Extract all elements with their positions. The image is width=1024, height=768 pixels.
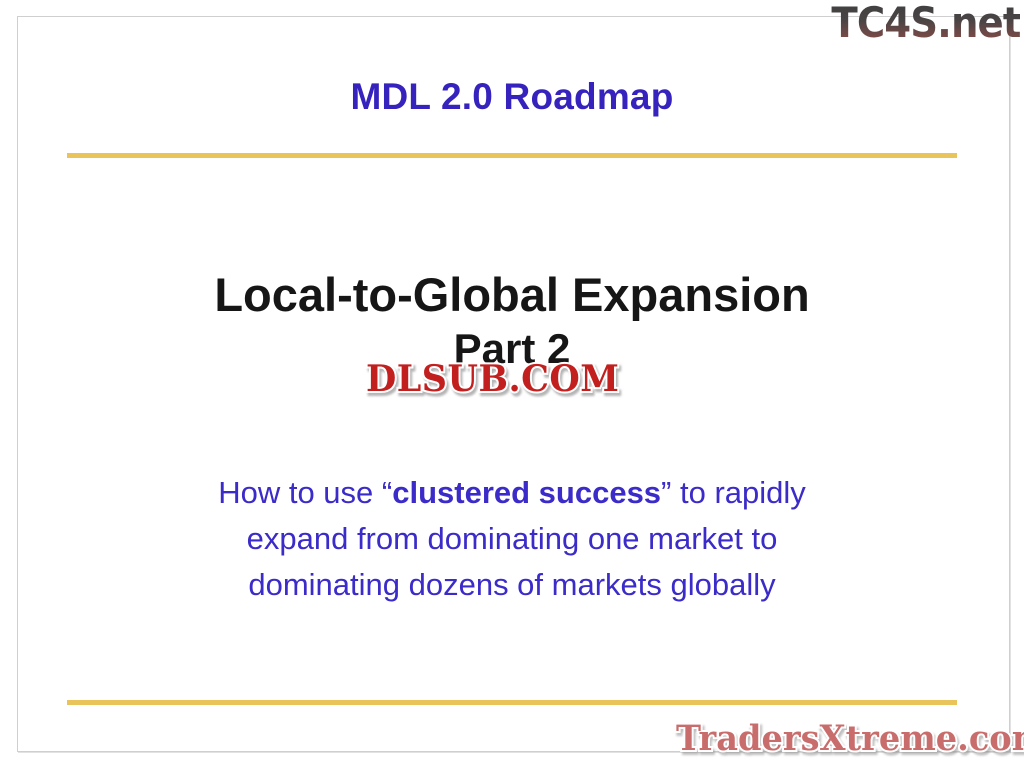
body-line-1-prefix: How to use “: [218, 475, 392, 510]
slide-title: MDL 2.0 Roadmap: [0, 76, 1024, 118]
divider-rule-top: [67, 153, 957, 158]
watermark-tradersxtreme-logo: TradersXtreme.com: [676, 718, 1024, 759]
body-line-2: expand from dominating one market to: [0, 516, 1024, 562]
divider-rule-bottom: [67, 700, 957, 705]
body-line-3: dominating dozens of markets globally: [0, 562, 1024, 608]
watermark-dlsub-logo: DLSUB.COM: [366, 358, 619, 400]
presentation-slide: MDL 2.0 Roadmap Local-to-Global Expansio…: [0, 0, 1024, 768]
body-line-1-emphasis: clustered success: [392, 475, 661, 510]
body-line-1: How to use “clustered success” to rapidl…: [0, 470, 1024, 516]
slide-body-text: How to use “clustered success” to rapidl…: [0, 470, 1024, 608]
watermark-tc4s-logo: TC4S.net: [831, 0, 1020, 47]
slide-heading-main: Local-to-Global Expansion: [214, 268, 809, 321]
body-line-1-suffix: ” to rapidly: [661, 475, 806, 510]
